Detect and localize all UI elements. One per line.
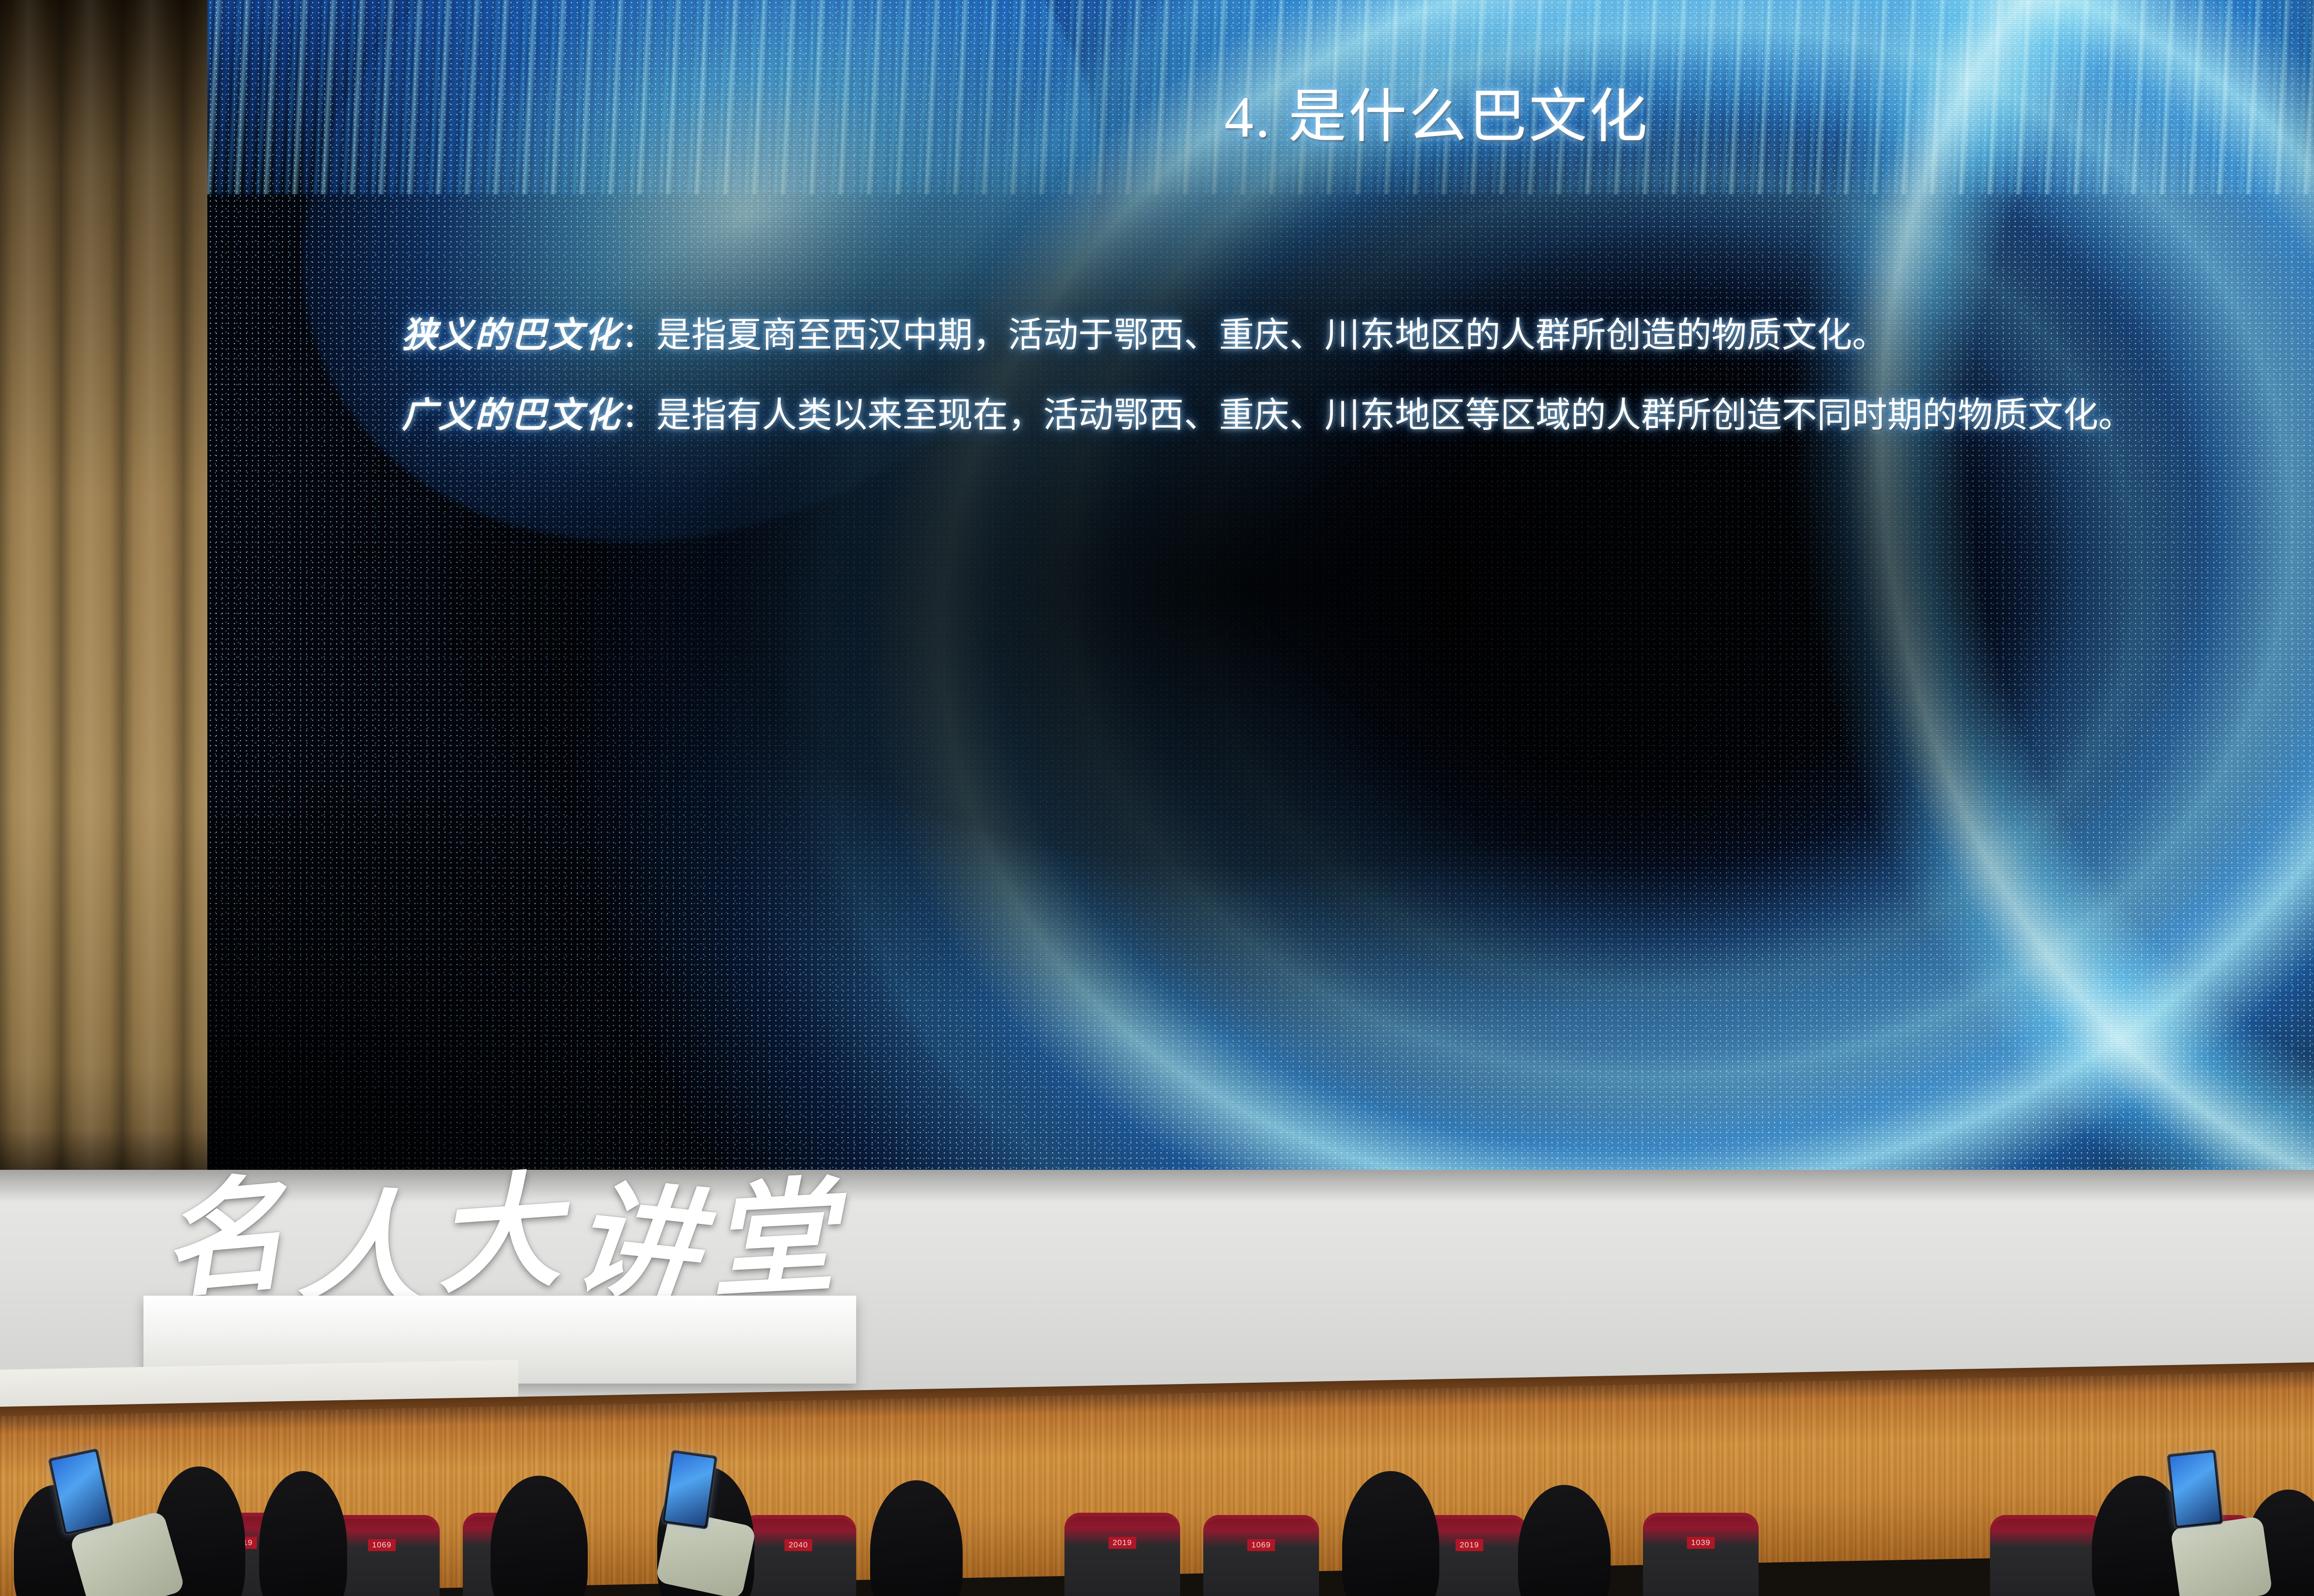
seat: 2040: [740, 1515, 856, 1596]
seat-number: 2019: [1456, 1539, 1483, 1551]
audience-head: [1342, 1471, 1439, 1596]
logo-char-4: 讲: [567, 1176, 707, 1313]
logo-char-1: 名: [156, 1172, 293, 1307]
audience-head: [259, 1471, 347, 1596]
smartphone[interactable]: [2167, 1449, 2223, 1529]
audience-head: [1518, 1485, 1611, 1596]
audience-area: 2019 1069 1039 2040 2019 1069 2019 1039: [0, 1407, 2314, 1596]
seat: 1039: [1643, 1513, 1759, 1596]
audience-head: [491, 1476, 588, 1596]
logo-char-3: 大: [431, 1169, 566, 1302]
slide-body: 狭义的巴文化：是指夏商至西汉中期，活动于鄂西、重庆、川东地区的人群所创造的物质文…: [346, 305, 2314, 465]
slide-paragraph-1-text: ：是指夏商至西汉中期，活动于鄂西、重庆、川东地区的人群所创造的物质文化。: [621, 316, 1887, 355]
stage-curtain-left: [0, 0, 218, 1185]
logo-char-5: 堂: [707, 1176, 840, 1306]
seat-number: 1069: [1247, 1539, 1275, 1551]
seat-number: 2019: [1108, 1537, 1136, 1549]
lecture-hall-photo: 4. 是什么巴文化 狭义的巴文化：是指夏商至西汉中期，活动于鄂西、重庆、川东地区…: [0, 0, 2314, 1596]
phone-screen: [665, 1453, 715, 1527]
slide-paragraph-2-text: ：是指有人类以来至现在，活动鄂西、重庆、川东地区等区域的人群所创造不同时期的物质…: [621, 396, 2134, 435]
phone-screen: [2170, 1452, 2220, 1526]
slide-paragraph-1-lead: 狭义的巴文化: [402, 316, 621, 355]
slide-paragraph-2-lead: 广义的巴文化: [402, 396, 621, 435]
audience-sleeve: [2170, 1516, 2273, 1596]
seat-number: 1069: [368, 1539, 396, 1551]
seat-number: 2040: [784, 1539, 812, 1551]
slide-paragraph-2: 广义的巴文化：是指有人类以来至现在，活动鄂西、重庆、川东地区等区域的人群所创造不…: [346, 385, 2314, 446]
seat: [1990, 1515, 2106, 1596]
slide-title: 4. 是什么巴文化: [207, 83, 2314, 152]
seat: 1069: [1203, 1515, 1319, 1596]
audience-head: [870, 1480, 963, 1596]
slide-paragraph-1: 狭义的巴文化：是指夏商至西汉中期，活动于鄂西、重庆、川东地区的人群所创造的物质文…: [346, 305, 2314, 366]
led-screen: 4. 是什么巴文化 狭义的巴文化：是指夏商至西汉中期，活动于鄂西、重庆、川东地区…: [207, 0, 2314, 1178]
seat-number: 1039: [1687, 1537, 1715, 1549]
seat: 2019: [1064, 1513, 1180, 1596]
slide-content: 4. 是什么巴文化 狭义的巴文化：是指夏商至西汉中期，活动于鄂西、重庆、川东地区…: [207, 0, 2314, 1178]
